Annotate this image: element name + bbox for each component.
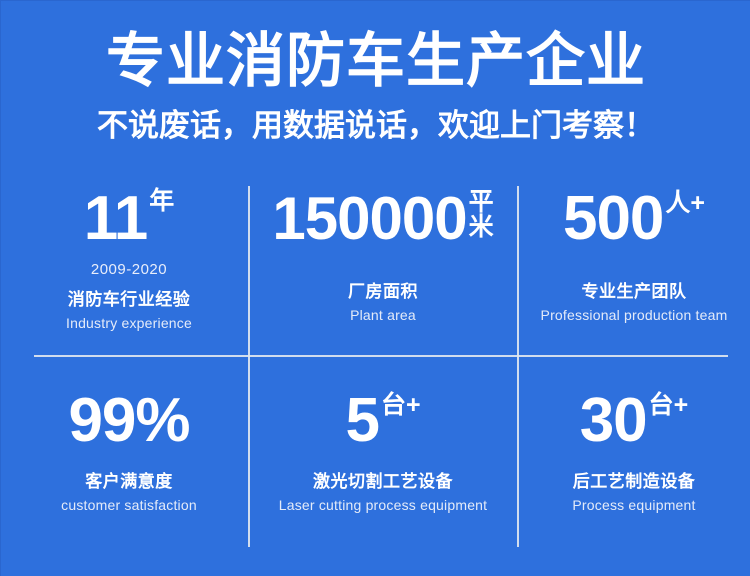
stat-unit: 台+ [379,386,421,419]
stat-number: 5 [345,386,378,456]
stat-label-en: Professional production team [517,306,750,325]
stat-number: 30 [580,386,647,456]
stat-label-cn: 后工艺制造设备 [517,470,750,493]
stat-label-cn: 厂房面积 [249,280,517,303]
stat-number: 11 [84,184,148,254]
stat-label-cn: 激光切割工艺设备 [249,470,517,493]
stat-number-line: 99% [9,386,249,456]
stat-label-en: Industry experience [9,314,249,333]
banner-subtitle: 不说废话，用数据说话，欢迎上门考察！ [1,105,750,147]
stat-number-line: 30 台+ [517,386,750,456]
stat-number: 99% [68,386,189,456]
stat-number-line: 500 人+ [517,184,750,254]
banner-title: 专业消防车生产企业 [1,25,750,97]
stat-label-cn: 客户满意度 [9,470,249,493]
stat-cell-customer-satisfaction: 99% 客户满意度 customer satisfaction [9,366,249,546]
stat-label-en: Process equipment [517,496,750,515]
stat-label-cn: 专业生产团队 [517,280,750,303]
stat-unit: 台+ [647,386,689,419]
stat-label-en: customer satisfaction [9,496,249,515]
stat-label-en: Plant area [249,306,517,325]
stat-number-line: 11 年 [9,184,249,254]
stat-cell-industry-experience: 11 年 2009-2020 消防车行业经验 Industry experien… [9,176,249,356]
stat-unit-line-1: 平 [469,190,494,215]
stat-number: 150000 [272,184,466,254]
stats-grid: 11 年 2009-2020 消防车行业经验 Industry experien… [1,176,750,556]
stat-number: 500 [563,184,663,254]
stat-number-line: 5 台+ [249,386,517,456]
stat-number-line: 150000 平 米 [249,184,517,254]
stat-unit-line-2: 米 [469,215,494,240]
stat-cell-process-equipment: 30 台+ 后工艺制造设备 Process equipment [517,366,750,546]
stat-cell-plant-area: 150000 平 米 厂房面积 Plant area [249,176,517,356]
stat-unit: 人+ [663,184,705,217]
stat-unit: 年 [147,184,174,215]
stat-cell-laser-cutting-equipment: 5 台+ 激光切割工艺设备 Laser cutting process equi… [249,366,517,546]
stat-label-cn: 消防车行业经验 [9,288,249,311]
stat-year-range: 2009-2020 [9,260,249,280]
stat-unit: 平 米 [467,184,494,240]
banner-header: 专业消防车生产企业 不说废话，用数据说话，欢迎上门考察！ [1,1,750,166]
stat-label-en: Laser cutting process equipment [249,496,517,515]
promo-banner: 专业消防车生产企业 不说废话，用数据说话，欢迎上门考察！ 11 年 2009-2… [0,0,750,576]
stat-cell-production-team: 500 人+ 专业生产团队 Professional production te… [517,176,750,356]
